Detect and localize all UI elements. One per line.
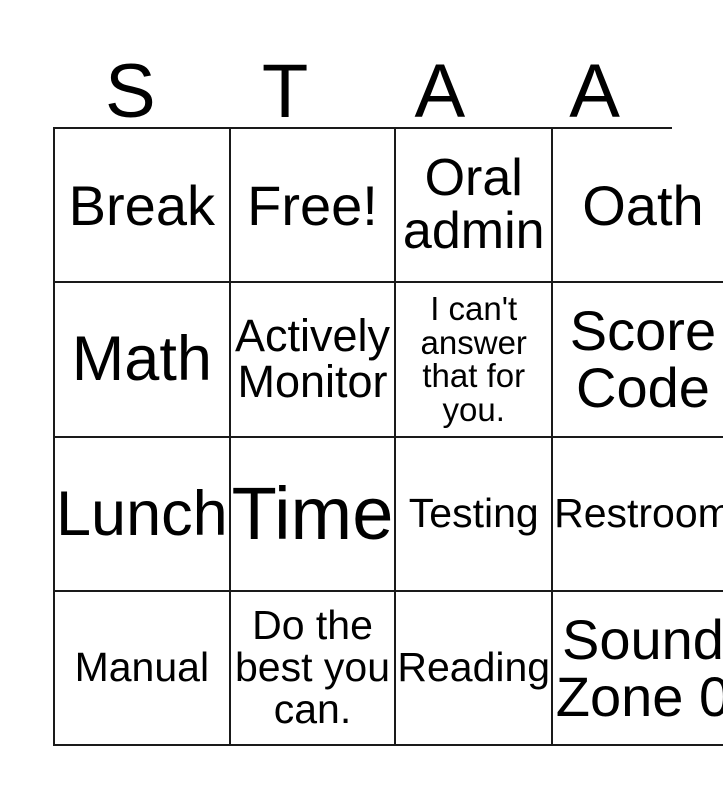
bingo-cell-label: I can't answer that for you. bbox=[396, 292, 551, 427]
bingo-cell-label: Restroom bbox=[553, 493, 723, 535]
bingo-cell-label: Oath bbox=[553, 177, 723, 234]
bingo-cell-label: Testing bbox=[396, 493, 551, 535]
bingo-cell[interactable]: Score Code bbox=[553, 283, 723, 437]
bingo-cell-label: Oral admin bbox=[396, 152, 551, 258]
bingo-cell-label: Do the best you can. bbox=[231, 605, 395, 730]
bingo-cell[interactable]: Testing bbox=[396, 438, 553, 592]
header-letter-1: S bbox=[53, 40, 208, 127]
bingo-header-letters: S T A A bbox=[53, 40, 672, 127]
bingo-cell[interactable]: Manual bbox=[55, 592, 231, 746]
bingo-cell-label: Math bbox=[55, 327, 229, 391]
bingo-cell-label: Actively Monitor bbox=[231, 313, 395, 405]
bingo-card: S T A A Break Free! Oral admin Oath Math… bbox=[0, 0, 723, 800]
header-letter-4: A bbox=[517, 40, 672, 127]
bingo-cell[interactable]: Do the best you can. bbox=[231, 592, 397, 746]
bingo-cell-label: Time bbox=[231, 476, 395, 551]
bingo-cell[interactable]: Sound Zone 0 bbox=[553, 592, 723, 746]
bingo-cell-label: Lunch bbox=[55, 482, 229, 546]
bingo-cell-label: Break bbox=[55, 177, 229, 234]
bingo-cell[interactable]: Actively Monitor bbox=[231, 283, 397, 437]
bingo-grid: Break Free! Oral admin Oath Math Activel… bbox=[53, 127, 672, 746]
header-letter-2: T bbox=[208, 40, 363, 127]
bingo-cell[interactable]: Lunch bbox=[55, 438, 231, 592]
bingo-cell[interactable]: Time bbox=[231, 438, 397, 592]
bingo-cell[interactable]: Oral admin bbox=[396, 129, 553, 283]
bingo-cell[interactable]: Reading bbox=[396, 592, 553, 746]
bingo-cell[interactable]: Oath bbox=[553, 129, 723, 283]
bingo-cell-label: Free! bbox=[231, 177, 395, 234]
bingo-cell-label: Score Code bbox=[553, 302, 723, 416]
bingo-cell[interactable]: I can't answer that for you. bbox=[396, 283, 553, 437]
bingo-cell[interactable]: Math bbox=[55, 283, 231, 437]
bingo-cell-label: Reading bbox=[396, 647, 551, 689]
bingo-cell[interactable]: Restroom bbox=[553, 438, 723, 592]
bingo-cell[interactable]: Break bbox=[55, 129, 231, 283]
bingo-cell-label: Manual bbox=[55, 647, 229, 689]
bingo-cell[interactable]: Free! bbox=[231, 129, 397, 283]
bingo-cell-label: Sound Zone 0 bbox=[553, 611, 723, 725]
header-letter-3: A bbox=[363, 40, 518, 127]
